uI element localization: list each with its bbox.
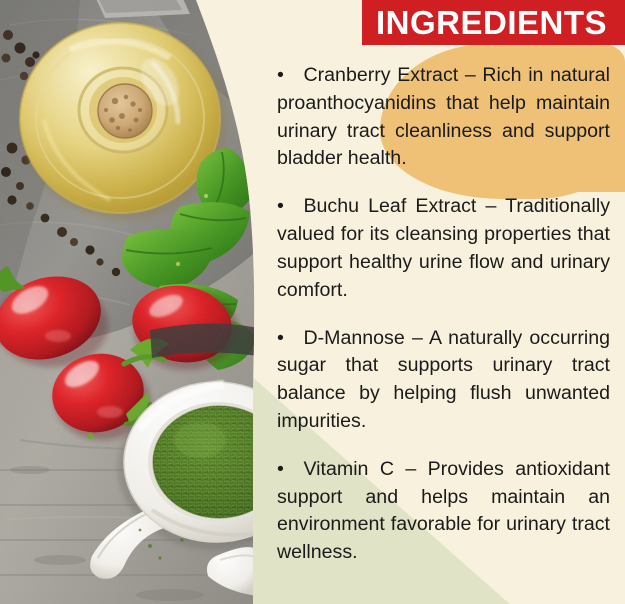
bullet-icon: • [277, 195, 303, 217]
ingredient-text: Buchu Leaf Extract – Traditionally value… [277, 195, 610, 300]
ingredient-item: • D-Mannose – A naturally occurring suga… [277, 325, 610, 436]
ingredient-text: D-Mannose – A naturally occurring sugar … [277, 327, 610, 432]
header-banner: INGREDIENTS [362, 0, 625, 45]
ingredient-text: Cranberry Extract – Rich in natural proa… [277, 64, 610, 169]
bullet-icon: • [277, 64, 303, 86]
ingredients-list: • Cranberry Extract – Rich in natural pr… [277, 62, 610, 567]
page-title: INGREDIENTS [376, 6, 607, 39]
ingredient-text: Vitamin C – Provides antioxidant support… [277, 458, 610, 563]
ingredient-item: • Buchu Leaf Extract – Traditionally val… [277, 193, 610, 304]
food-ingredients-photo [0, 0, 258, 604]
ingredient-item: • Cranberry Extract – Rich in natural pr… [277, 62, 610, 173]
ingredient-item: • Vitamin C – Provides antioxidant suppo… [277, 456, 610, 567]
bullet-icon: • [277, 327, 303, 349]
ingredients-poster: INGREDIENTS • Cranberry Extract – Rich i… [0, 0, 625, 604]
bullet-icon: • [277, 458, 303, 480]
